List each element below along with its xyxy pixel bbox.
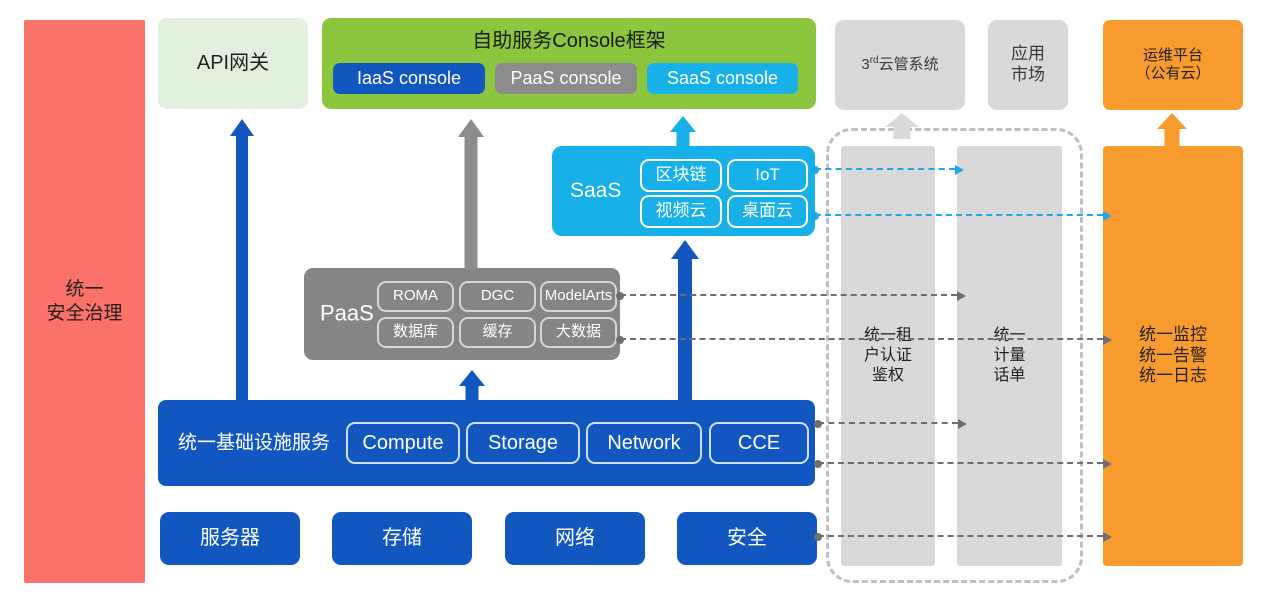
ops-platform-line2: （公有云） <box>1135 65 1210 83</box>
paas-chip-bigdata[interactable]: 大数据 <box>540 317 617 348</box>
ops-platform-column: 统一监控 统一告警 统一日志 <box>1103 146 1243 566</box>
metering-line3: 话单 <box>993 366 1025 386</box>
saas-layer-box: SaaS 区块链 IoT 视频云 桌面云 <box>552 146 815 236</box>
connector-arrowhead <box>1103 532 1112 542</box>
security-governance-line1: 统一 <box>46 278 122 301</box>
paas-layer-label: PaaS <box>320 301 374 328</box>
console-framework-title: 自助服务Console框架 <box>322 29 816 53</box>
connector-arrowhead <box>1103 335 1112 345</box>
arrow-shared-to-ops-platform <box>1157 113 1187 146</box>
paas-chip-roma[interactable]: ROMA <box>377 281 454 312</box>
console-framework-box: 自助服务Console框架 IaaS console PaaS console … <box>322 18 816 109</box>
saas-layer-label: SaaS <box>570 178 621 204</box>
resource-network-label: 网络 <box>555 526 595 550</box>
connector-endpoint-dot <box>814 420 822 428</box>
saas-console-pill[interactable]: SaaS console <box>647 63 798 94</box>
app-market-line2: 市场 <box>1011 65 1045 86</box>
arrow-shared-to-cloud-mgmt <box>885 113 919 139</box>
auth-line2: 户认证 <box>864 346 912 366</box>
paas-chip-bigdata-label: 大数据 <box>556 323 601 341</box>
cloud-mgmt-prefix: 3 <box>861 56 869 73</box>
paas-console-label: PaaS console <box>510 68 621 90</box>
saas-chip-desktop-cloud[interactable]: 桌面云 <box>727 195 808 228</box>
infra-chip-compute[interactable]: Compute <box>346 422 460 464</box>
saas-chip-blockchain[interactable]: 区块链 <box>640 159 722 192</box>
arrow-infra-to-paas <box>459 370 485 401</box>
cloud-mgmt-rest: 云管系统 <box>879 56 939 73</box>
ops-alarm-label: 统一告警 <box>1139 346 1207 367</box>
resource-box-storage[interactable]: 存储 <box>332 512 472 565</box>
auth-line3: 鉴权 <box>864 366 912 386</box>
connector-arrowhead <box>1103 211 1112 221</box>
paas-chip-dgc-label: DGC <box>481 287 514 305</box>
infra-chip-cce-label: CCE <box>738 431 780 455</box>
ops-monitoring-label: 统一监控 <box>1139 325 1207 346</box>
api-gateway-label: API网关 <box>197 51 269 75</box>
connector-endpoint-dot <box>814 460 822 468</box>
connector-arrowhead <box>1103 459 1112 469</box>
third-party-cloud-mgmt-box[interactable]: 3rd云管系统 <box>835 20 965 110</box>
paas-chip-modelarts[interactable]: ModelArts <box>540 281 617 312</box>
shared-service-auth-column: 统一租 户认证 鉴权 <box>841 146 935 566</box>
connector-endpoint-dot <box>811 166 819 174</box>
paas-layer-box: PaaS ROMA DGC ModelArts 数据库 缓存 大数据 <box>304 268 620 360</box>
unified-infrastructure-bar: 统一基础设施服务 Compute Storage Network CCE <box>158 400 815 486</box>
auth-line1: 统一租 <box>864 326 912 346</box>
paas-chip-roma-label: ROMA <box>393 287 438 305</box>
infra-chip-cce[interactable]: CCE <box>709 422 809 464</box>
saas-chip-iot[interactable]: IoT <box>727 159 808 192</box>
metering-line1: 统一 <box>993 326 1025 346</box>
infra-chip-storage-label: Storage <box>488 431 558 455</box>
paas-chip-cache-label: 缓存 <box>482 323 512 341</box>
arrow-saas-to-console <box>670 116 696 148</box>
arrow-infra-to-api-gateway <box>230 119 254 401</box>
iaas-console-label: IaaS console <box>357 68 461 90</box>
shared-service-metering-column: 统一 计量 话单 <box>957 146 1062 566</box>
app-market-line1: 应用 <box>1011 44 1045 65</box>
paas-chip-database-label: 数据库 <box>393 323 438 341</box>
paas-chip-dgc[interactable]: DGC <box>459 281 536 312</box>
connector-infra-to-ops <box>818 462 1103 464</box>
saas-console-label: SaaS console <box>667 68 778 90</box>
iaas-console-pill[interactable]: IaaS console <box>333 63 485 94</box>
resource-storage-label: 存储 <box>382 526 422 550</box>
infra-chip-compute-label: Compute <box>362 431 443 455</box>
resource-box-network[interactable]: 网络 <box>505 512 645 565</box>
connector-arrowhead <box>955 165 964 175</box>
arrow-paas-to-console <box>458 119 484 269</box>
ops-platform-header-box[interactable]: 运维平台 （公有云） <box>1103 20 1243 110</box>
paas-chip-cache[interactable]: 缓存 <box>459 317 536 348</box>
connector-arrowhead <box>957 291 966 301</box>
saas-chip-iot-label: IoT <box>755 165 780 186</box>
ops-log-label: 统一日志 <box>1139 366 1207 387</box>
connector-endpoint-dot <box>814 533 822 541</box>
resource-server-label: 服务器 <box>200 526 260 550</box>
connector-endpoint-dot <box>616 336 624 344</box>
saas-chip-video-cloud-label: 视频云 <box>656 201 707 222</box>
arrow-infra-to-saas <box>671 240 699 401</box>
saas-chip-blockchain-label: 区块链 <box>656 165 707 186</box>
resource-security-label: 安全 <box>727 526 767 550</box>
app-market-box[interactable]: 应用 市场 <box>988 20 1068 110</box>
security-governance-column: 统一 安全治理 <box>24 20 145 583</box>
security-governance-line2: 安全治理 <box>46 302 122 325</box>
unified-infrastructure-label: 统一基础设施服务 <box>178 431 330 454</box>
infra-chip-network[interactable]: Network <box>586 422 702 464</box>
third-party-cloud-mgmt-label: 3rd云管系统 <box>861 55 938 74</box>
connector-saas-to-ops <box>815 214 1103 216</box>
api-gateway-box[interactable]: API网关 <box>158 18 308 109</box>
connector-endpoint-dot <box>811 212 819 220</box>
resource-box-security[interactable]: 安全 <box>677 512 817 565</box>
connector-saas-to-auth <box>815 168 955 170</box>
paas-chip-modelarts-label: ModelArts <box>545 287 613 305</box>
connector-endpoint-dot <box>616 292 624 300</box>
connector-infra-to-metering <box>818 422 958 424</box>
saas-chip-video-cloud[interactable]: 视频云 <box>640 195 722 228</box>
architecture-diagram: 统一 安全治理 API网关 自助服务Console框架 IaaS console… <box>0 0 1265 605</box>
connector-arrowhead <box>958 419 967 429</box>
ops-platform-line1: 运维平台 <box>1135 47 1210 65</box>
connector-security-to-ops <box>818 535 1103 537</box>
metering-line2: 计量 <box>993 346 1025 366</box>
connector-paas-to-ops <box>620 338 1103 340</box>
saas-chip-desktop-cloud-label: 桌面云 <box>742 201 793 222</box>
resource-box-server[interactable]: 服务器 <box>160 512 300 565</box>
cloud-mgmt-superscript: rd <box>870 55 879 66</box>
connector-paas-to-metering <box>620 294 957 296</box>
infra-chip-storage[interactable]: Storage <box>466 422 580 464</box>
infra-chip-network-label: Network <box>607 431 680 455</box>
paas-console-pill[interactable]: PaaS console <box>495 63 637 94</box>
paas-chip-database[interactable]: 数据库 <box>377 317 454 348</box>
